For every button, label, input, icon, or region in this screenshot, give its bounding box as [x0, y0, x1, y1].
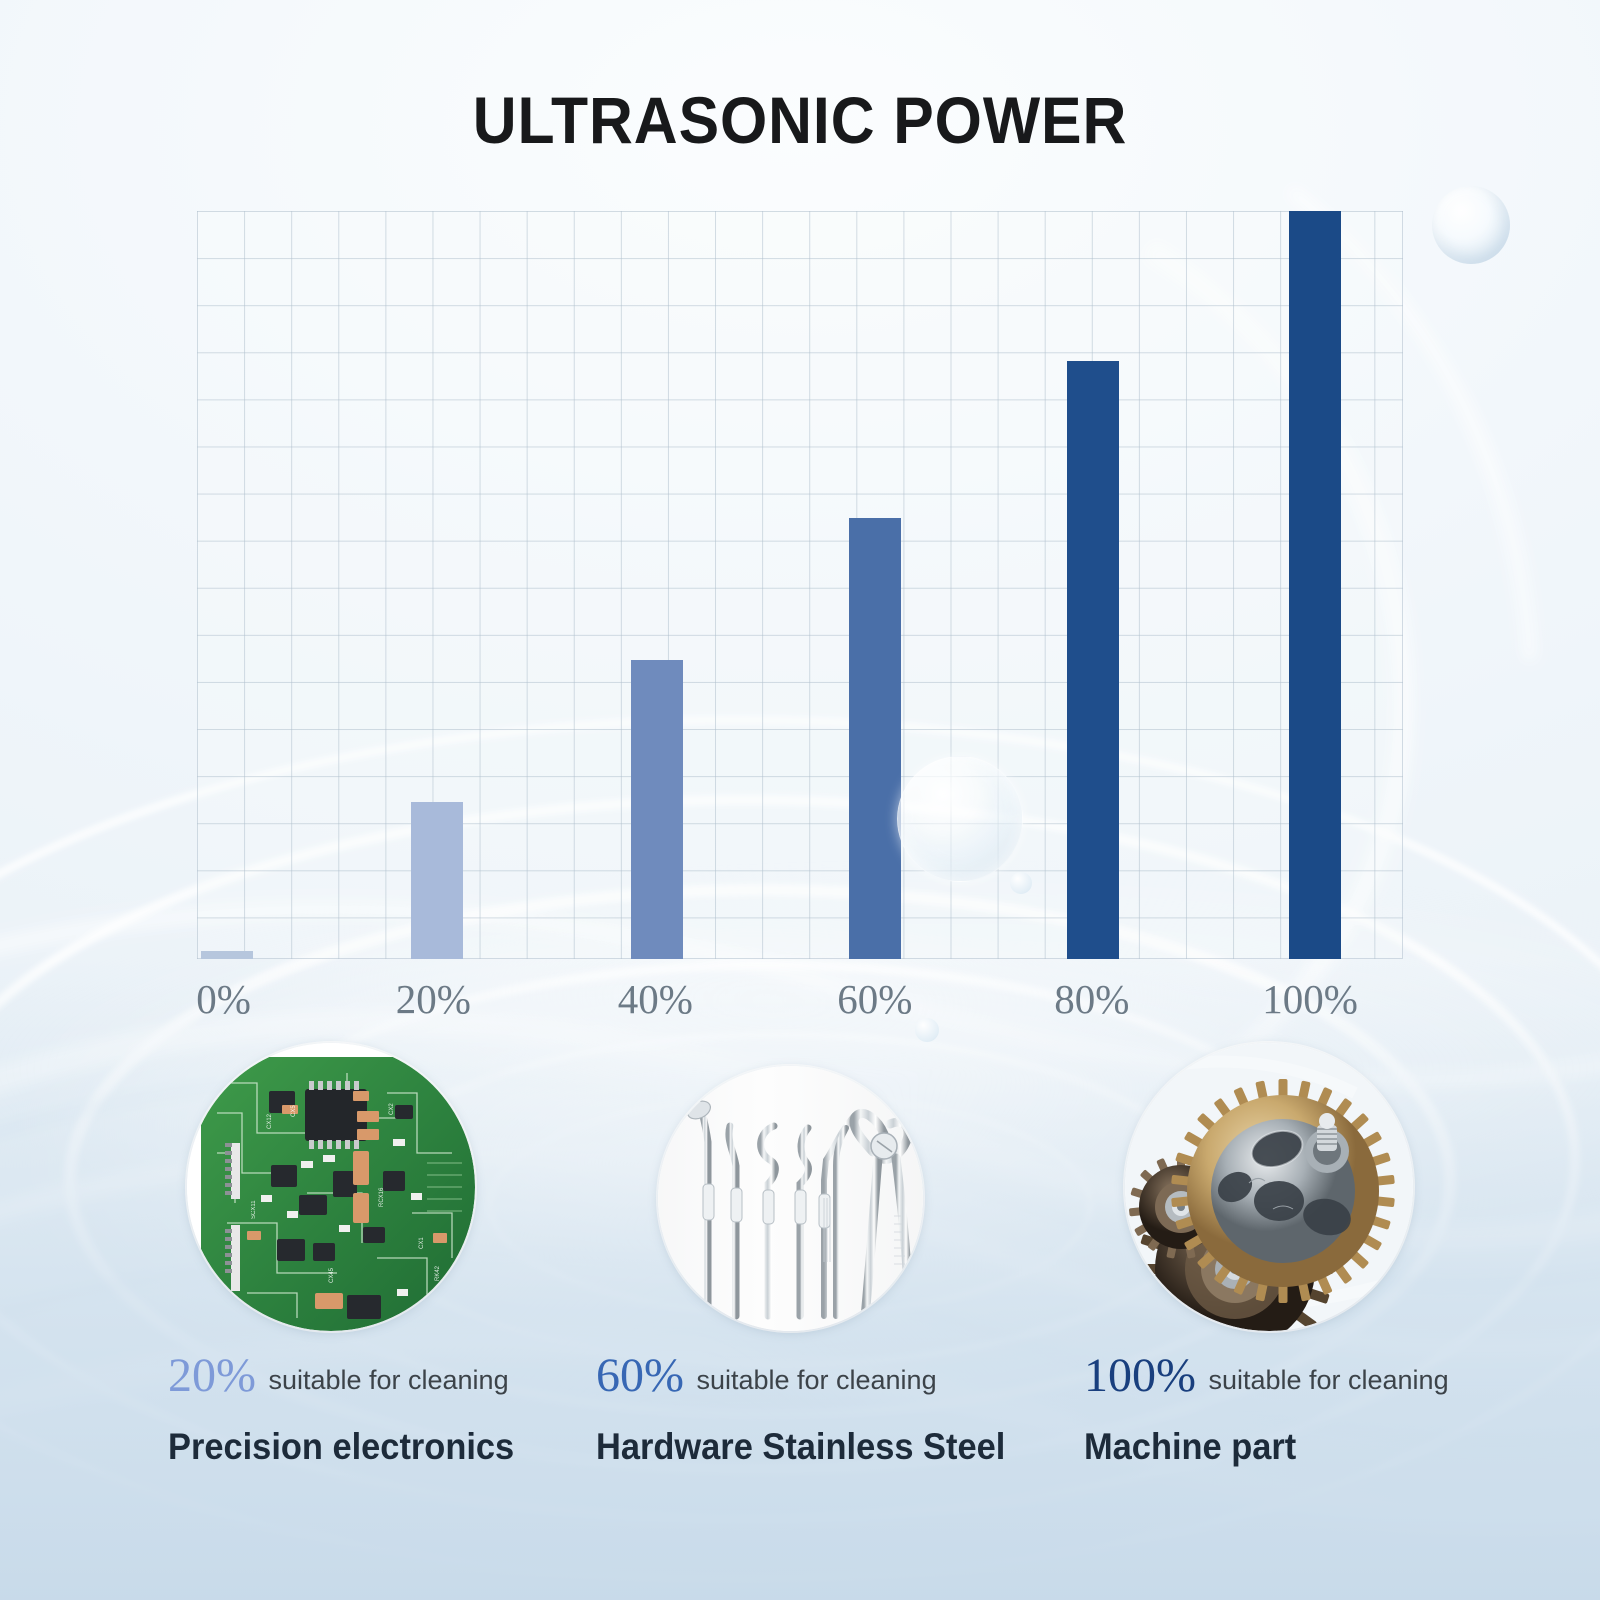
svg-text:RCX16: RCX16 [379, 1187, 385, 1207]
x-tick-80: 80% [1054, 975, 1129, 1023]
bar-0 [201, 951, 253, 959]
svg-text:SCX11: SCX11 [251, 1200, 257, 1219]
bar-80 [1067, 361, 1119, 959]
card-hardware-stainless-steel: 60% suitable for cleaning Hardware Stain… [596, 1352, 1016, 1468]
card-caption: Precision electronics [168, 1426, 559, 1468]
bar-40 [631, 660, 683, 959]
water-bubble-small-icon [1010, 872, 1032, 894]
water-droplet-icon [1432, 186, 1510, 264]
card-caption: Machine part [1084, 1426, 1475, 1468]
x-tick-20: 20% [396, 975, 471, 1023]
card-percent-value: 60% [596, 1349, 684, 1402]
circuit-board-photo: CX12 CX5 CX2 RCX16 CX1 RK42 SCX11 CX45 [187, 1043, 475, 1331]
x-tick-0: 0% [196, 975, 251, 1023]
x-tick-100: 100% [1262, 975, 1358, 1023]
chart-bars [197, 211, 1403, 959]
svg-text:CX45: CX45 [329, 1267, 335, 1283]
card-machine-part: 100% suitable for cleaning Machine part [1084, 1352, 1504, 1468]
svg-text:CX2: CX2 [389, 1103, 395, 1115]
bar-60 [849, 518, 901, 959]
card-percent-line: 100% suitable for cleaning [1084, 1352, 1504, 1400]
card-percent-suffix: suitable for cleaning [696, 1365, 936, 1395]
water-bubble-mini-icon [915, 1018, 939, 1042]
card-percent-value: 20% [168, 1349, 256, 1402]
bar-20 [411, 802, 463, 959]
x-tick-60: 60% [837, 975, 912, 1023]
card-percent-suffix: suitable for cleaning [268, 1365, 508, 1395]
bar-chart [197, 211, 1403, 959]
card-precision-electronics: 20% suitable for cleaning Precision elec… [168, 1352, 588, 1468]
svg-text:CX5: CX5 [291, 1105, 297, 1117]
svg-text:CX12: CX12 [267, 1113, 273, 1129]
card-percent-line: 20% suitable for cleaning [168, 1352, 588, 1400]
infographic-canvas: ULTRASONIC POWER 0% 20% 40% 60% 80% 100% [0, 0, 1600, 1600]
x-tick-40: 40% [618, 975, 693, 1023]
card-percent-suffix: suitable for cleaning [1208, 1365, 1448, 1395]
svg-text:RK42: RK42 [435, 1265, 441, 1281]
dental-tools-photo [658, 1066, 923, 1331]
svg-text:CX1: CX1 [419, 1237, 425, 1249]
bar-100 [1289, 211, 1341, 959]
card-percent-line: 60% suitable for cleaning [596, 1352, 1016, 1400]
page-title: ULTRASONIC POWER [64, 82, 1536, 158]
water-bubble-icon [897, 756, 1023, 882]
x-axis: 0% 20% 40% 60% 80% 100% [197, 975, 1403, 1035]
card-caption: Hardware Stainless Steel [596, 1426, 987, 1468]
gears-photo [1125, 1043, 1413, 1331]
card-percent-value: 100% [1084, 1349, 1196, 1402]
